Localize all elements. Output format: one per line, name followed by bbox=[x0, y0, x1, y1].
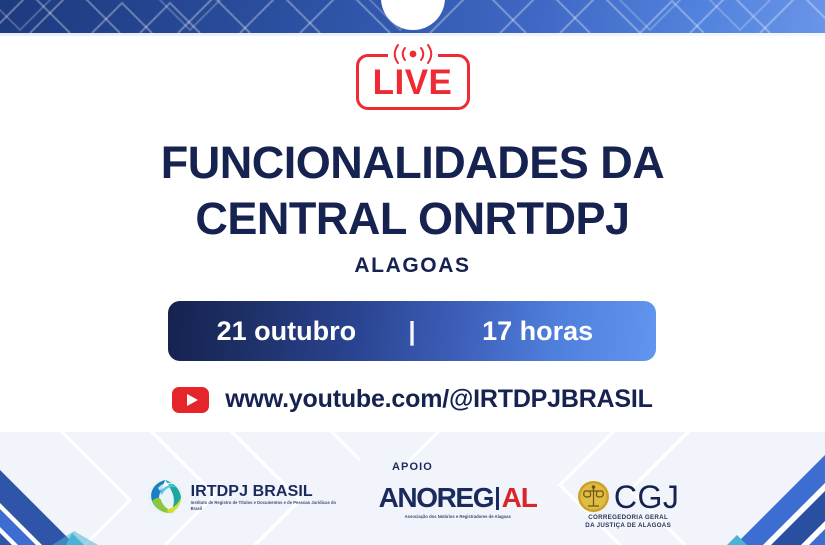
title-line-1: FUNCIONALIDADES DA bbox=[0, 135, 825, 191]
anoreg-name: ANOREG bbox=[379, 484, 494, 512]
datetime-bar: 21 outubro | 17 horas bbox=[168, 301, 656, 361]
irtdpj-swirl-mark-icon bbox=[146, 478, 184, 516]
logo-irtdpj-brasil: IRTDPJ BRASIL Instituto de Registro de T… bbox=[146, 478, 339, 516]
live-badge: LIVE bbox=[356, 44, 470, 110]
scales-of-justice-icon bbox=[577, 480, 610, 513]
cgj-wordmark: CGJ bbox=[577, 480, 680, 513]
datetime-separator: | bbox=[408, 316, 415, 347]
header-bar bbox=[0, 0, 825, 33]
subtitle-location: ALAGOAS bbox=[0, 254, 825, 278]
youtube-link-row[interactable]: www.youtube.com/@IRTDPJBRASIL bbox=[0, 385, 825, 414]
footer-logo-row: IRTDPJ BRASIL Instituto de Registro de T… bbox=[0, 478, 825, 529]
event-date: 21 outubro bbox=[198, 316, 374, 347]
title-line-2: CENTRAL ONRTDPJ bbox=[0, 191, 825, 247]
cgj-name: CGJ bbox=[614, 481, 680, 513]
irtdpj-text-block: IRTDPJ BRASIL Instituto de Registro de T… bbox=[191, 483, 339, 511]
anoreg-wordmark: ANOREG AL bbox=[379, 484, 537, 512]
irtdpj-name: IRTDPJ BRASIL bbox=[191, 483, 339, 500]
youtube-play-icon[interactable] bbox=[172, 387, 209, 413]
page-title: FUNCIONALIDADES DA CENTRAL ONRTDPJ bbox=[0, 135, 825, 247]
irtdpj-tagline: Instituto de Registro de Títulos e Docum… bbox=[191, 500, 339, 511]
live-badge-label: LIVE bbox=[356, 54, 470, 110]
anoreg-tagline: Associação dos Notários e Registradores … bbox=[405, 514, 511, 520]
apoio-label: APOIO bbox=[0, 461, 825, 473]
logo-cgj-alagoas: CGJ CORREGEDORIA GERALDA JUSTIÇA DE ALAG… bbox=[577, 478, 680, 529]
anoreg-divider bbox=[496, 487, 499, 510]
play-triangle-icon bbox=[187, 394, 198, 406]
live-event-banner: LIVE FUNCIONALIDADES DA CENTRAL ONRTDPJ … bbox=[0, 0, 825, 545]
logo-anoreg-al: ANOREG AL Associação dos Notários e Regi… bbox=[379, 478, 537, 520]
anoreg-state-suffix: AL bbox=[502, 484, 537, 512]
header-underline bbox=[0, 33, 825, 36]
cgj-tagline: CORREGEDORIA GERALDA JUSTIÇA DE ALAGOAS bbox=[585, 514, 671, 529]
event-time: 17 horas bbox=[450, 316, 626, 347]
youtube-url-text[interactable]: www.youtube.com/@IRTDPJBRASIL bbox=[225, 385, 652, 414]
